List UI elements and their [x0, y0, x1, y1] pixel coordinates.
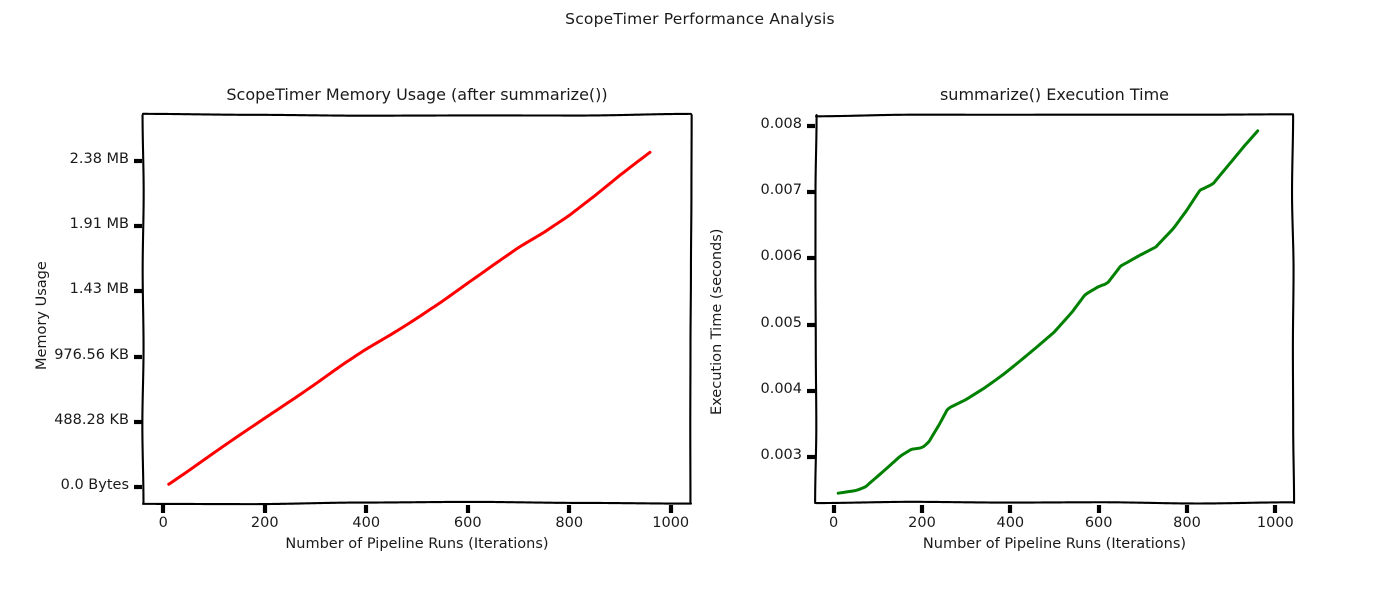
xtick-mark	[916, 502, 928, 516]
ytick-mark	[133, 220, 145, 232]
axes-title-exectime: summarize() Execution Time	[816, 85, 1293, 104]
xtick-mark	[1093, 502, 1105, 516]
ytick-label: 0.007	[616, 182, 802, 198]
ytick-mark	[806, 252, 818, 264]
xtick-mark	[462, 502, 474, 516]
xtick-mark	[157, 502, 169, 516]
xtick-label: 1000	[1215, 515, 1335, 531]
plot-area-exectime	[816, 115, 1293, 503]
xtick-mark	[259, 502, 271, 516]
xtick-mark	[360, 502, 372, 516]
figure-suptitle: ScopeTimer Performance Analysis	[0, 10, 1400, 28]
yaxis-label-memory: Memory Usage	[34, 261, 50, 370]
xaxis-label-memory: Number of Pipeline Runs (Iterations)	[143, 536, 691, 552]
xtick-mark	[1269, 502, 1281, 516]
ytick-mark	[806, 385, 818, 397]
ytick-mark	[133, 155, 145, 167]
ytick-mark	[133, 285, 145, 297]
ytick-mark	[806, 120, 818, 132]
ytick-mark	[806, 319, 818, 331]
ytick-label: 2.38 MB	[0, 151, 129, 167]
xtick-mark	[563, 502, 575, 516]
ytick-mark	[133, 351, 145, 363]
ytick-label: 0.008	[616, 116, 802, 132]
xtick-mark	[828, 502, 840, 516]
ytick-label: 0.003	[616, 447, 802, 463]
xtick-mark	[1004, 502, 1016, 516]
ytick-mark	[133, 416, 145, 428]
ytick-mark	[806, 451, 818, 463]
ytick-label: 488.28 KB	[0, 412, 129, 428]
ytick-label: 1.91 MB	[0, 216, 129, 232]
xtick-mark	[1181, 502, 1193, 516]
ytick-mark	[806, 186, 818, 198]
xtick-label: 1000	[611, 515, 731, 531]
axes-title-memory: ScopeTimer Memory Usage (after summarize…	[143, 85, 691, 104]
ytick-label: 1.43 MB	[0, 281, 129, 297]
axes-execution-time: summarize() Execution Time	[816, 115, 1293, 503]
xtick-mark	[665, 502, 677, 516]
plot-area-memory	[143, 115, 691, 503]
axes-memory-usage: ScopeTimer Memory Usage (after summarize…	[143, 115, 691, 503]
yaxis-label-exectime: Execution Time (seconds)	[709, 229, 725, 415]
figure-canvas: ScopeTimer Performance Analysis ScopeTim…	[0, 0, 1400, 600]
xaxis-label-exectime: Number of Pipeline Runs (Iterations)	[816, 536, 1293, 552]
ytick-label: 976.56 KB	[0, 347, 129, 363]
ytick-mark	[133, 481, 145, 493]
ytick-label: 0.0 Bytes	[0, 477, 129, 493]
